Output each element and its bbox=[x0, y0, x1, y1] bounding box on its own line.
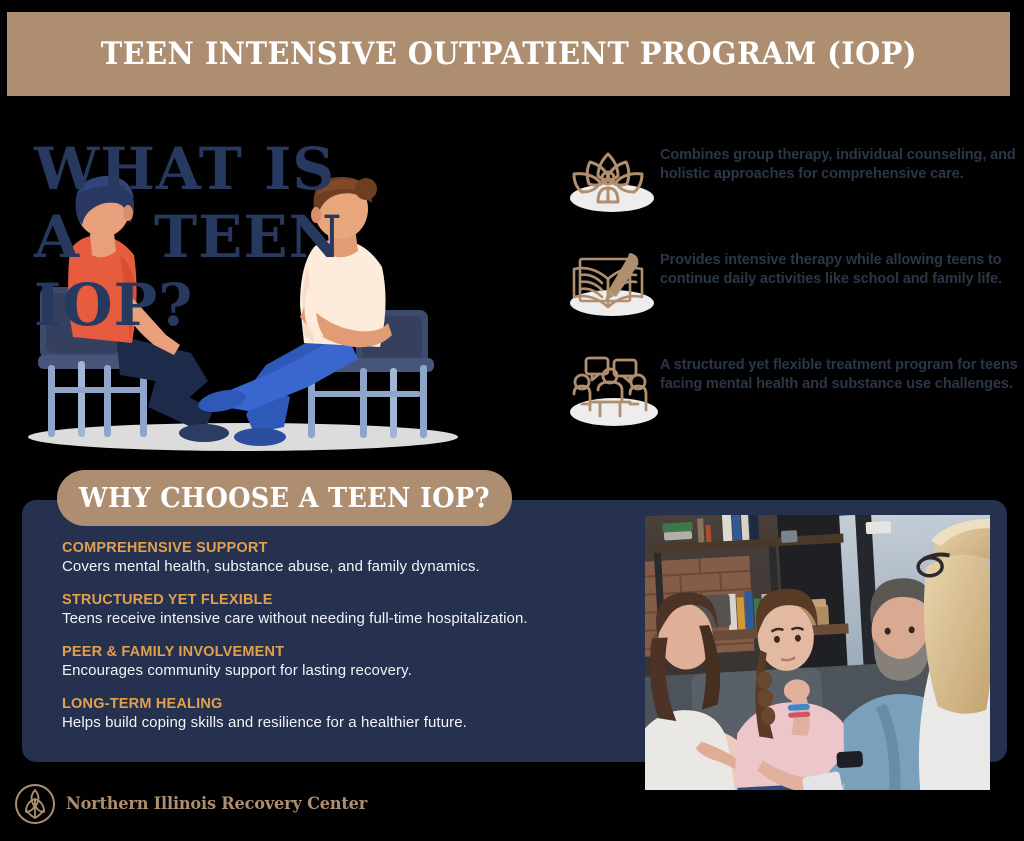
why-choose-pill: WHY CHOOSE A TEEN IOP? bbox=[57, 470, 512, 526]
header-bar: TEEN INTENSIVE OUTPATIENT PROGRAM (IOP) bbox=[7, 12, 1010, 96]
family-therapy-session-photo bbox=[645, 515, 990, 790]
benefit-item: STRUCTURED YET FLEXIBLE Teens receive in… bbox=[62, 592, 622, 627]
benefit-item: COMPREHENSIVE SUPPORT Covers mental heal… bbox=[62, 540, 622, 575]
feature-list: Combines group therapy, individual couns… bbox=[560, 140, 1020, 455]
hero-illustration bbox=[8, 175, 468, 460]
footer: Northern Illinois Recovery Center bbox=[14, 783, 383, 825]
lotus-meditation-icon bbox=[560, 140, 660, 220]
infographic-page: TEEN INTENSIVE OUTPATIENT PROGRAM (IOP) bbox=[0, 0, 1024, 841]
why-choose-label: WHY CHOOSE A TEEN IOP? bbox=[79, 483, 490, 514]
brand-name: Northern Illinois Recovery Center bbox=[66, 794, 367, 814]
benefit-description: Teens receive intensive care without nee… bbox=[62, 610, 622, 627]
photo-container bbox=[645, 515, 990, 790]
feature-item: Provides intensive therapy while allowin… bbox=[560, 245, 1020, 328]
feature-item: A structured yet flexible treatment prog… bbox=[560, 350, 1020, 433]
benefit-title: PEER & FAMILY INVOLVEMENT bbox=[62, 644, 622, 660]
open-book-with-pen-icon bbox=[560, 245, 660, 325]
benefit-description: Encourages community support for lasting… bbox=[62, 662, 622, 679]
benefit-item: PEER & FAMILY INVOLVEMENT Encourages com… bbox=[62, 644, 622, 679]
benefit-title: STRUCTURED YET FLEXIBLE bbox=[62, 592, 622, 608]
benefit-description: Helps build coping skills and resilience… bbox=[62, 714, 622, 731]
benefit-title: LONG-TERM HEALING bbox=[62, 696, 622, 712]
page-title: TEEN INTENSIVE OUTPATIENT PROGRAM (IOP) bbox=[100, 36, 916, 72]
feature-text: A structured yet flexible treatment prog… bbox=[660, 350, 1020, 394]
benefit-description: Covers mental health, substance abuse, a… bbox=[62, 558, 622, 575]
group-therapy-people-icon bbox=[560, 350, 660, 430]
leaf-circle-logo bbox=[14, 783, 56, 825]
benefit-title: COMPREHENSIVE SUPPORT bbox=[62, 540, 622, 556]
benefit-list: COMPREHENSIVE SUPPORT Covers mental heal… bbox=[62, 540, 622, 748]
feature-item: Combines group therapy, individual couns… bbox=[560, 140, 1020, 223]
feature-text: Combines group therapy, individual couns… bbox=[660, 140, 1020, 184]
feature-text: Provides intensive therapy while allowin… bbox=[660, 245, 1020, 289]
benefit-item: LONG-TERM HEALING Helps build coping ski… bbox=[62, 696, 622, 731]
